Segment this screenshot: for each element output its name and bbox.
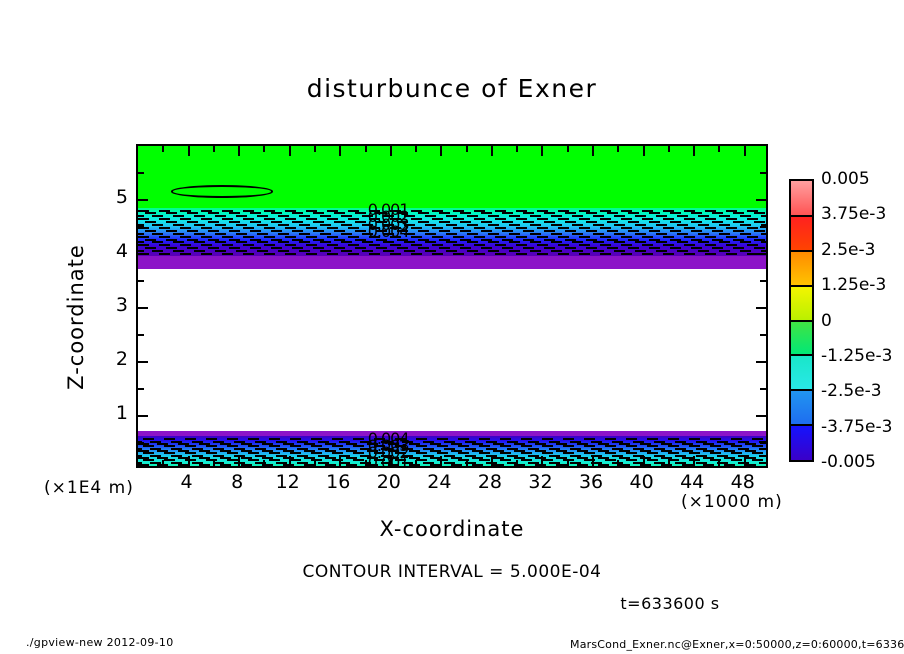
colorbar-band-5: [791, 355, 812, 390]
x-tick-top-30: [516, 146, 518, 152]
z-tick-right-3: [756, 307, 766, 309]
x-tick-top-38: [617, 146, 619, 152]
z-tick-right-3.5: [760, 280, 766, 282]
colorbar-label-0: 0.005: [821, 169, 870, 189]
x-tick-bottom-30: [516, 460, 518, 466]
colorbar-separator-3: [791, 285, 812, 287]
x-tick-label-40: 40: [620, 471, 664, 493]
colorbar[interactable]: [789, 179, 814, 462]
x-tick-top-24: [440, 146, 442, 156]
contour-line-upper: [138, 224, 766, 226]
x-tick-label-4: 4: [165, 471, 209, 493]
z-tick-left-5.5: [138, 172, 144, 174]
x-tick-top-10: [263, 146, 265, 152]
page-title: disturbunce of Exner: [0, 74, 904, 103]
x-tick-top-4: [188, 146, 190, 156]
x-tick-top-40: [643, 146, 645, 156]
contour-line-upper: [138, 230, 766, 232]
z-tick-left-5: [138, 199, 148, 201]
z-tick-left-3.5: [138, 280, 144, 282]
x-tick-bottom-36: [592, 456, 594, 466]
z-tick-right-1: [756, 415, 766, 417]
x-tick-bottom-28: [491, 456, 493, 466]
z-tick-right-4: [756, 253, 766, 255]
footer-source: MarsCond_Exner.nc@Exner,x=0:50000,z=0:60…: [570, 638, 904, 651]
contour-line-upper: [138, 212, 766, 214]
x-axis-unit-label: (×1000 m): [681, 492, 783, 512]
x-tick-label-44: 44: [670, 471, 714, 493]
x-tick-bottom-18: [365, 460, 367, 466]
z-tick-left-2: [138, 361, 148, 363]
contour-interval-caption: CONTOUR INTERVAL = 5.000E-04: [136, 562, 768, 582]
x-tick-label-32: 32: [518, 471, 562, 493]
colorbar-label-7: -3.75e-3: [821, 417, 892, 437]
z-tick-left-4: [138, 253, 148, 255]
x-tick-top-22: [415, 146, 417, 152]
x-tick-bottom-6: [213, 460, 215, 466]
contour-line-lower: [138, 466, 766, 468]
colorbar-band-7: [791, 425, 812, 460]
colorbar-separator-6: [791, 389, 812, 391]
colorbar-band-4: [791, 321, 812, 356]
contour-line-upper: [138, 210, 766, 212]
footer-command: ./gpview-new 2012-09-10: [26, 636, 174, 649]
x-tick-bottom-44: [693, 456, 695, 466]
contour-line-upper: [138, 250, 766, 252]
x-tick-bottom-24: [440, 456, 442, 466]
y-axis-title: Z-coordinate: [64, 217, 88, 417]
x-tick-label-8: 8: [215, 471, 259, 493]
x-tick-top-6: [213, 146, 215, 152]
contour-label-upper-3: 0.004: [368, 222, 409, 241]
x-tick-top-8: [238, 146, 240, 156]
contour-line-upper: [138, 244, 766, 246]
z-tick-label-4: 4: [98, 240, 128, 262]
z-tick-left-1: [138, 415, 148, 417]
colorbar-separator-1: [791, 215, 812, 217]
region-upper-green: [138, 146, 766, 208]
contour-line-upper: [138, 241, 766, 243]
closed-contour-ellipse: [171, 185, 274, 198]
x-tick-top-34: [567, 146, 569, 152]
contour-line-upper: [138, 227, 766, 229]
x-axis-title: X-coordinate: [136, 517, 768, 541]
x-tick-label-20: 20: [367, 471, 411, 493]
z-tick-right-5.5: [760, 172, 766, 174]
x-tick-bottom-46: [718, 460, 720, 466]
x-tick-bottom-12: [289, 456, 291, 466]
x-tick-top-16: [339, 146, 341, 156]
x-tick-bottom-2: [162, 460, 164, 466]
colorbar-label-1: 3.75e-3: [821, 204, 886, 224]
x-tick-top-28: [491, 146, 493, 156]
x-tick-bottom-10: [263, 460, 265, 466]
timestamp-caption: t=633600 s: [560, 594, 780, 613]
x-tick-bottom-48: [744, 456, 746, 466]
contour-line-upper: [138, 239, 766, 241]
colorbar-separator-4: [791, 320, 812, 322]
contour-line-upper: [138, 253, 766, 255]
x-tick-top-44: [693, 146, 695, 156]
colorbar-label-6: -2.5e-3: [821, 381, 882, 401]
z-tick-right-4.5: [760, 226, 766, 228]
x-tick-bottom-8: [238, 456, 240, 466]
plot-area[interactable]: 0.0010.0020.0030.0040.0040.0030.0020.001: [136, 144, 768, 468]
x-tick-bottom-34: [567, 460, 569, 466]
colorbar-label-4: 0: [821, 311, 832, 331]
x-tick-label-16: 16: [316, 471, 360, 493]
contour-line-upper: [138, 233, 766, 235]
colorbar-band-2: [791, 251, 812, 286]
region-upper-purple: [138, 256, 766, 270]
x-tick-top-12: [289, 146, 291, 156]
x-tick-bottom-22: [415, 460, 417, 466]
x-tick-bottom-26: [466, 460, 468, 466]
heatmap-canvas: [138, 146, 766, 466]
x-tick-top-26: [466, 146, 468, 152]
contour-line-upper: [138, 236, 766, 238]
x-tick-bottom-4: [188, 456, 190, 466]
x-tick-top-48: [744, 146, 746, 156]
x-tick-label-24: 24: [417, 471, 461, 493]
colorbar-label-8: -0.005: [821, 452, 876, 472]
x-tick-bottom-40: [643, 456, 645, 466]
x-tick-top-20: [390, 146, 392, 156]
x-tick-top-18: [365, 146, 367, 152]
region-blank-middle: [138, 269, 766, 431]
x-tick-top-2: [162, 146, 164, 152]
z-tick-right-5: [756, 199, 766, 201]
x-tick-bottom-16: [339, 456, 341, 466]
z-tick-label-3: 3: [98, 294, 128, 316]
z-tick-right-2.5: [760, 334, 766, 336]
z-tick-left-2.5: [138, 334, 144, 336]
z-tick-left-4.5: [138, 226, 144, 228]
z-tick-left-1.5: [138, 388, 144, 390]
x-tick-bottom-38: [617, 460, 619, 466]
colorbar-separator-5: [791, 354, 812, 356]
z-tick-right-2: [756, 361, 766, 363]
x-tick-top-14: [314, 146, 316, 152]
colorbar-separator-7: [791, 424, 812, 426]
contour-line-upper: [138, 221, 766, 223]
x-tick-top-46: [718, 146, 720, 152]
x-tick-bottom-42: [668, 460, 670, 466]
colorbar-label-5: -1.25e-3: [821, 346, 892, 366]
x-tick-top-42: [668, 146, 670, 152]
x-tick-label-48: 48: [721, 471, 765, 493]
colorbar-band-1: [791, 216, 812, 251]
colorbar-band-0: [791, 181, 812, 216]
colorbar-band-6: [791, 390, 812, 425]
x-tick-bottom-14: [314, 460, 316, 466]
contour-label-lower-3: 0.001: [368, 453, 409, 468]
colorbar-label-3: 1.25e-3: [821, 275, 886, 295]
z-tick-right-0.5: [760, 442, 766, 444]
y-axis-unit-label: (×1E4 m): [44, 478, 134, 498]
contour-line-upper: [138, 247, 766, 249]
z-tick-right-1.5: [760, 388, 766, 390]
colorbar-label-2: 2.5e-3: [821, 240, 875, 260]
x-tick-label-36: 36: [569, 471, 613, 493]
colorbar-band-3: [791, 286, 812, 321]
x-tick-label-28: 28: [468, 471, 512, 493]
x-tick-top-32: [541, 146, 543, 156]
x-tick-top-36: [592, 146, 594, 156]
colorbar-separator-2: [791, 250, 812, 252]
z-tick-label-2: 2: [98, 348, 128, 370]
z-tick-label-5: 5: [98, 186, 128, 208]
contour-line-upper: [138, 218, 766, 220]
z-tick-left-0.5: [138, 442, 144, 444]
x-tick-label-12: 12: [266, 471, 310, 493]
z-tick-label-1: 1: [98, 402, 128, 424]
contour-line-upper: [138, 215, 766, 217]
x-tick-bottom-32: [541, 456, 543, 466]
z-tick-left-3: [138, 307, 148, 309]
